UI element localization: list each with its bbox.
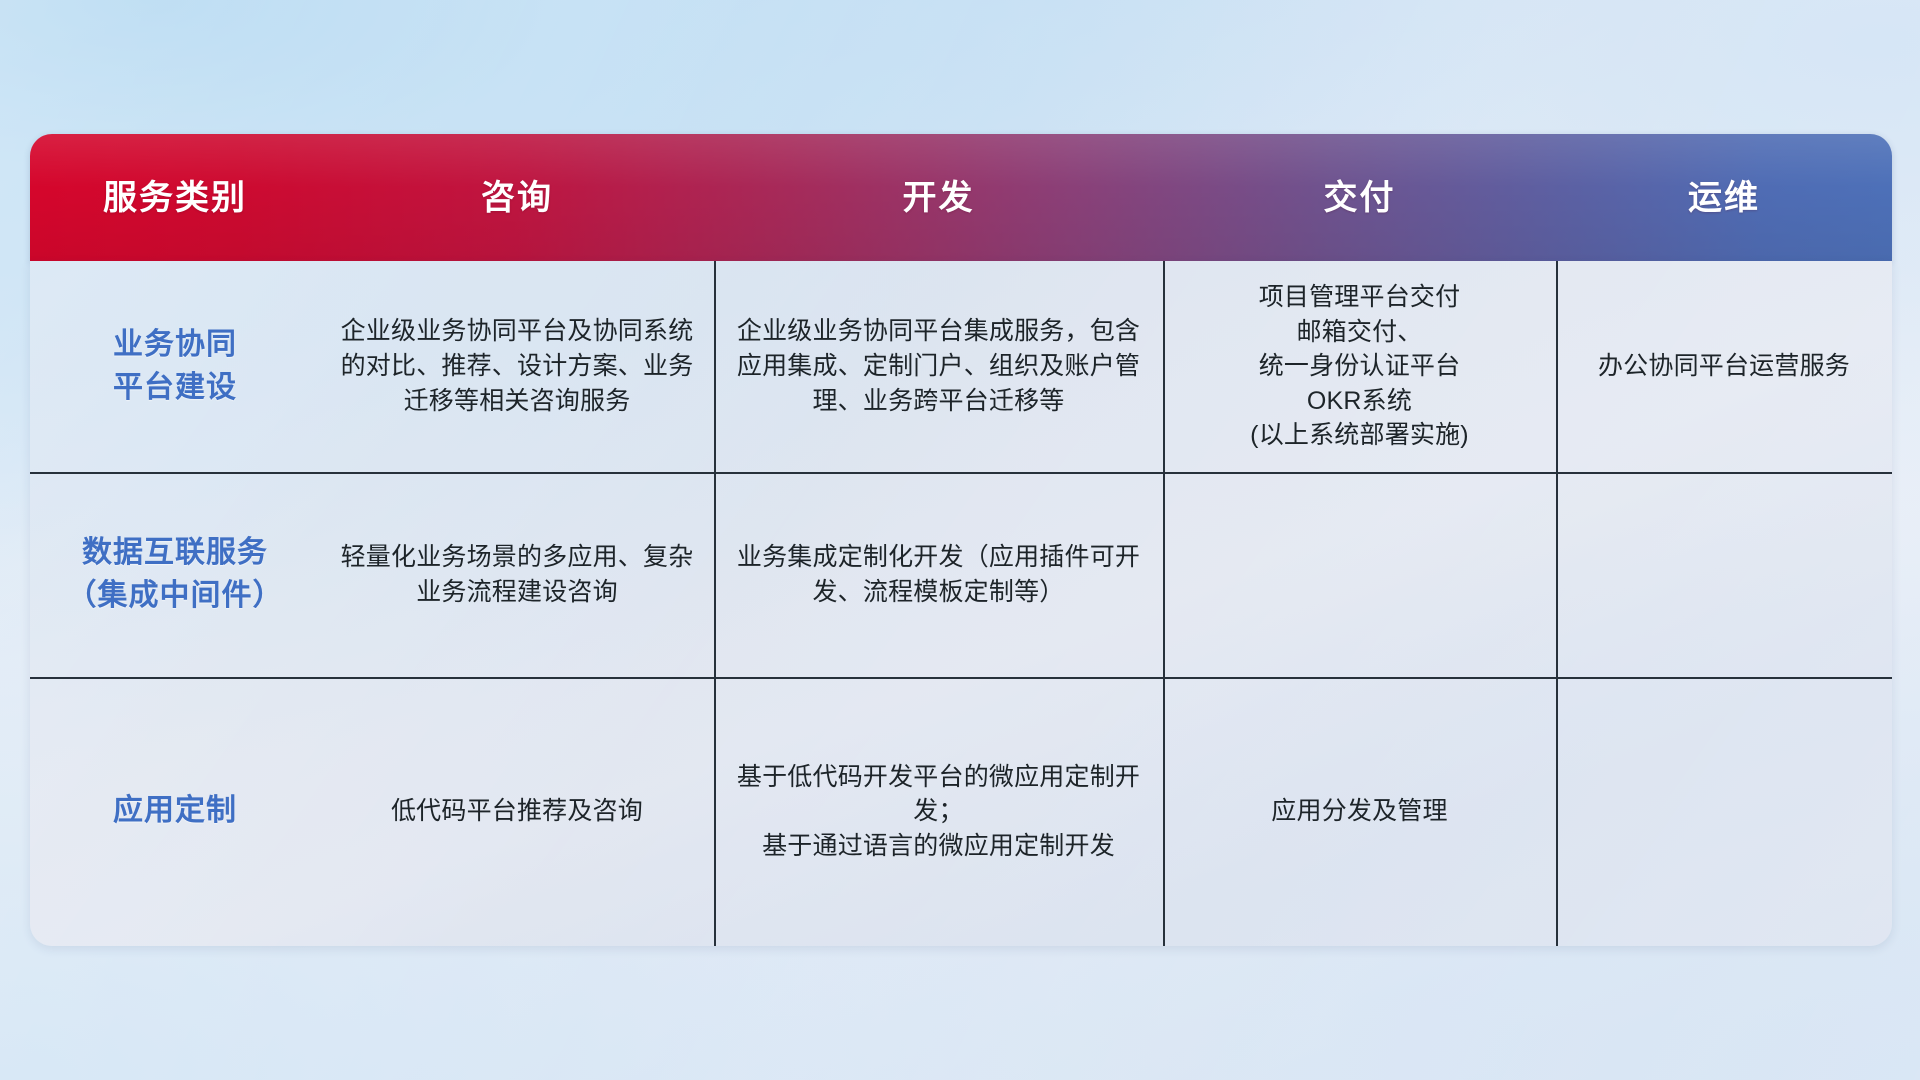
- cell-develop-text: 企业级业务协同平台集成服务，包含应用集成、定制门户、组织及账户管理、业务跨平台迁…: [728, 314, 1149, 419]
- column-divider-deliver-operate: [1556, 261, 1558, 946]
- cell-consult-text: 低代码平台推荐及咨询: [391, 794, 643, 829]
- cell-deliver: 应用分发及管理: [1163, 677, 1556, 946]
- cell-deliver-line: OKR系统: [1250, 384, 1469, 419]
- cell-deliver-text: 应用分发及管理: [1271, 794, 1447, 829]
- cell-deliver: 项目管理平台交付 邮箱交付、 统一身份认证平台 OKR系统 (以上系统部署实施): [1163, 261, 1556, 472]
- cell-deliver-line: 统一身份认证平台: [1250, 349, 1469, 384]
- cell-deliver-text: 项目管理平台交付 邮箱交付、 统一身份认证平台 OKR系统 (以上系统部署实施): [1250, 280, 1469, 453]
- table-header-row: 服务类别 咨询 开发 交付 运维: [30, 134, 1892, 261]
- cell-deliver: [1163, 472, 1556, 677]
- cell-develop-text: 基于低代码开发平台的微应用定制开发； 基于通过语言的微应用定制开发: [728, 760, 1149, 864]
- category-label: 应用定制: [113, 790, 237, 833]
- table-body: 业务协同 平台建设 企业级业务协同平台及协同系统的对比、推荐、设计方案、业务迁移…: [30, 261, 1892, 946]
- cell-operate: 办公协同平台运营服务: [1556, 261, 1892, 472]
- category-label-line: （集成中间件）: [67, 575, 284, 618]
- cell-consult-text: 企业级业务协同平台及协同系统的对比、推荐、设计方案、业务迁移等相关咨询服务: [334, 314, 700, 419]
- row-divider-2: [30, 677, 1892, 679]
- category-label-line: 业务协同: [113, 324, 237, 367]
- cell-develop-line: 基于通过语言的微应用定制开发: [728, 829, 1149, 864]
- cell-operate-text: 办公协同平台运营服务: [1598, 349, 1850, 384]
- cell-consult: 轻量化业务场景的多应用、复杂业务流程建设咨询: [320, 472, 714, 677]
- table-row: 业务协同 平台建设 企业级业务协同平台及协同系统的对比、推荐、设计方案、业务迁移…: [30, 261, 1892, 472]
- column-header-consult: 咨询: [320, 181, 714, 215]
- cell-consult: 企业级业务协同平台及协同系统的对比、推荐、设计方案、业务迁移等相关咨询服务: [320, 261, 714, 472]
- cell-develop: 业务集成定制化开发（应用插件可开发、流程模板定制等）: [714, 472, 1163, 677]
- cell-category: 业务协同 平台建设: [30, 261, 320, 472]
- category-label-line: 平台建设: [113, 367, 237, 410]
- cell-deliver-line: (以上系统部署实施): [1250, 418, 1469, 453]
- cell-category: 应用定制: [30, 677, 320, 946]
- table-row: 数据互联服务 （集成中间件） 轻量化业务场景的多应用、复杂业务流程建设咨询 业务…: [30, 472, 1892, 677]
- cell-develop-line: 基于低代码开发平台的微应用定制开发；: [728, 760, 1149, 829]
- service-category-table: 服务类别 咨询 开发 交付 运维 业务协同 平台建设 企业级业务协同平台及协同系…: [30, 134, 1892, 946]
- cell-consult-text: 轻量化业务场景的多应用、复杂业务流程建设咨询: [334, 540, 700, 610]
- cell-develop: 基于低代码开发平台的微应用定制开发； 基于通过语言的微应用定制开发: [714, 677, 1163, 946]
- cell-develop-text: 业务集成定制化开发（应用插件可开发、流程模板定制等）: [728, 540, 1149, 610]
- cell-category: 数据互联服务 （集成中间件）: [30, 472, 320, 677]
- column-header-deliver: 交付: [1163, 181, 1556, 215]
- cell-operate: [1556, 472, 1892, 677]
- row-divider-1: [30, 472, 1892, 474]
- category-label: 数据互联服务 （集成中间件）: [67, 532, 284, 617]
- category-label-line: 数据互联服务: [67, 532, 284, 575]
- column-header-category: 服务类别: [30, 181, 320, 215]
- table-row: 应用定制 低代码平台推荐及咨询 基于低代码开发平台的微应用定制开发； 基于通过语…: [30, 677, 1892, 946]
- category-label: 业务协同 平台建设: [113, 324, 237, 409]
- cell-develop: 企业级业务协同平台集成服务，包含应用集成、定制门户、组织及账户管理、业务跨平台迁…: [714, 261, 1163, 472]
- category-label-line: 应用定制: [113, 790, 237, 833]
- column-divider-consult-develop: [714, 261, 716, 946]
- cell-operate: [1556, 677, 1892, 946]
- column-header-operate: 运维: [1556, 181, 1892, 215]
- column-divider-develop-deliver: [1163, 261, 1165, 946]
- cell-deliver-line: 项目管理平台交付: [1250, 280, 1469, 315]
- column-header-develop: 开发: [714, 181, 1163, 215]
- cell-deliver-line: 邮箱交付、: [1250, 315, 1469, 350]
- cell-consult: 低代码平台推荐及咨询: [320, 677, 714, 946]
